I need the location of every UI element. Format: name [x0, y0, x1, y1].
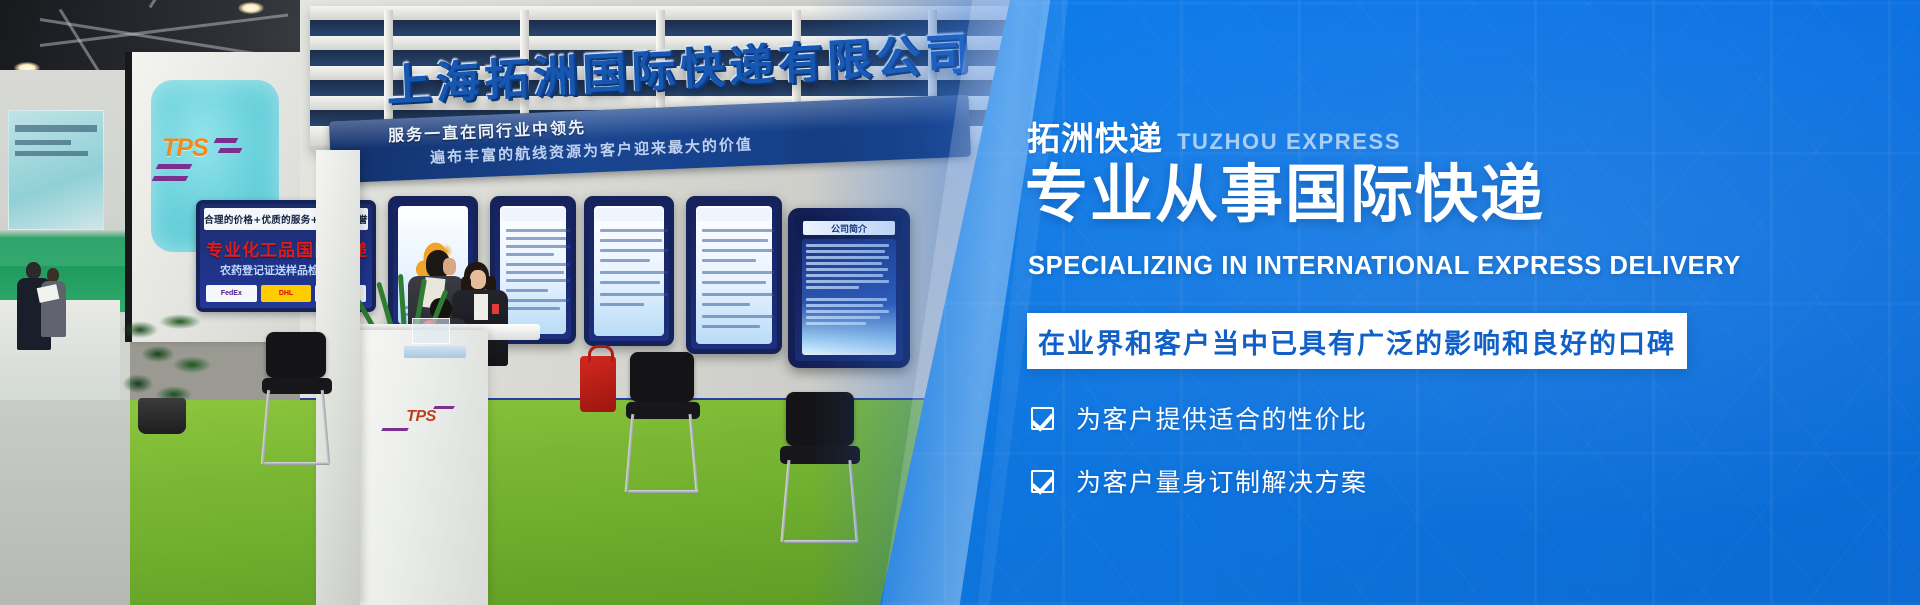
tps-logo-stripe: [214, 138, 239, 143]
bullet-label: 为客户提供适合的性价比: [1076, 400, 1368, 436]
tps-logo-stripe: [156, 164, 193, 169]
fedex-logo-icon: FedEx: [206, 285, 257, 302]
leaflet-stack: [404, 346, 466, 358]
headline-cn: 专业从事国际快递: [1025, 160, 1545, 229]
visitor-head: [47, 268, 59, 282]
checkbox-checked-icon: [1031, 407, 1054, 430]
subheadline-en: SPECIALIZING IN INTERNATIONAL EXPRESS DE…: [1028, 252, 1741, 281]
list-item: 为客户量身订制解决方案: [1031, 463, 1368, 499]
company-profile-text: [802, 239, 896, 355]
tps-logo-stripe: [218, 148, 243, 153]
plant-pot: [138, 398, 186, 434]
ceiling-light-icon: [238, 2, 264, 14]
dhl-logo-icon: DHL: [261, 285, 312, 302]
hero-banner: TPS: [0, 0, 1920, 605]
aisle-floor: [0, 400, 130, 605]
staff-woman-shirt: [474, 294, 488, 320]
chair: [778, 392, 870, 548]
display-lightbox: [584, 196, 674, 346]
staff-badge: [492, 304, 499, 314]
staff-woman-face: [470, 270, 486, 289]
visitor-head: [26, 262, 41, 279]
neighbour-poster: [8, 110, 104, 230]
bullet-label: 为客户量身订制解决方案: [1076, 463, 1368, 499]
red-bag: [580, 356, 616, 412]
company-profile-title: 公司简介: [803, 221, 895, 235]
checkbox-checked-icon: [1031, 470, 1054, 493]
glass-display-box: [412, 318, 450, 344]
quote-text: 在业界和客户当中已具有广泛的影响和良好的口碑: [1038, 322, 1676, 361]
tps-logo-stripe: [152, 176, 189, 181]
company-profile-board: 公司简介: [788, 208, 910, 368]
tps-logo-text: TPS: [162, 134, 208, 163]
display-lightbox: [686, 196, 782, 354]
list-item: 为客户提供适合的性价比: [1031, 400, 1368, 436]
counter-tps-logo: TPS: [378, 408, 464, 426]
chair: [624, 352, 710, 498]
feature-bullet-list: 为客户提供适合的性价比 为客户量身订制解决方案: [1031, 400, 1368, 526]
chair: [260, 332, 340, 472]
brand-name-en: TUZHOU EXPRESS: [1177, 131, 1401, 155]
banner-text-content: 拓洲快递 TUZHOU EXPRESS 专业从事国际快递 SPECIALIZIN…: [1027, 0, 1897, 605]
exhibition-booth-photo: TPS: [0, 0, 1010, 605]
brand-name-cn: 拓洲快递: [1027, 122, 1163, 155]
brand-row: 拓洲快递 TUZHOU EXPRESS: [1027, 122, 1401, 155]
quote-highlight-box: 在业界和客户当中已具有广泛的影响和良好的口碑: [1027, 313, 1687, 369]
reception-counter: TPS: [352, 330, 488, 605]
